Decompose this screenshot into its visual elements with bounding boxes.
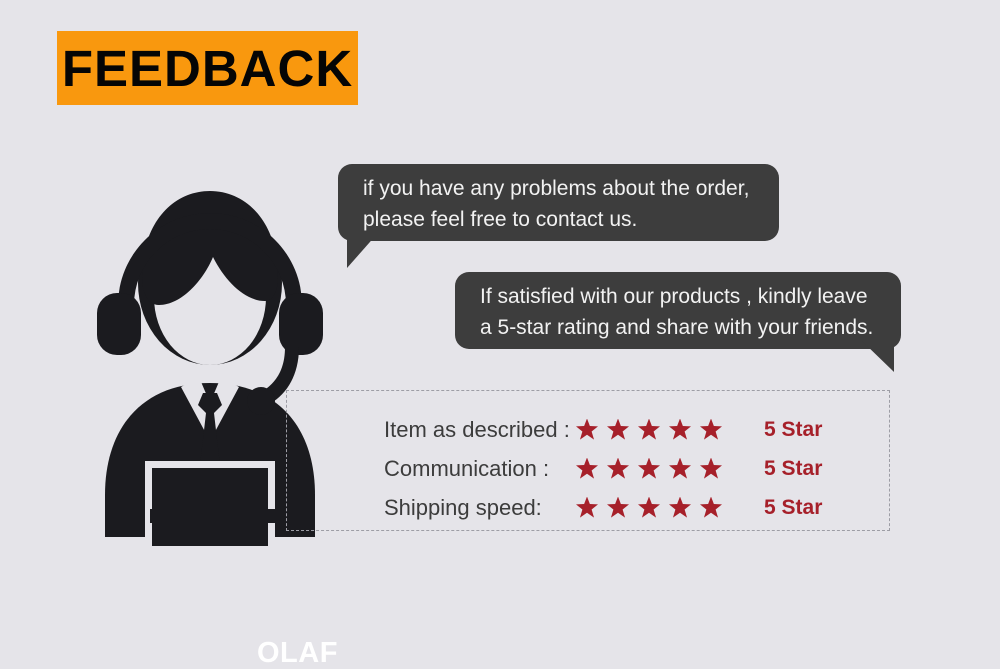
star-icon [607,458,629,480]
feedback-badge: FEEDBACK [57,31,358,105]
rating-rows: Item as described : 5 Star Communication… [384,410,854,527]
bubble1-line2: please feel free to contact us. [363,204,779,235]
star-rating-communication [576,458,738,480]
rating-row: Item as described : 5 Star [384,410,854,449]
rating-row: Communication : 5 Star [384,449,854,488]
bubble1-line1: if you have any problems about the order… [363,173,779,204]
rating-label-shipping-speed: Shipping speed: [384,495,576,521]
star-icon [576,458,598,480]
rating-value-communication: 5 Star [764,457,822,481]
speech-bubble-order-help: if you have any problems about the order… [338,164,779,241]
star-icon [638,419,660,441]
speech-bubble-rating-request-tail [862,341,894,372]
speech-bubble-rating-request: If satisfied with our products , kindly … [455,272,901,349]
star-icon [669,458,691,480]
bubble2-line2: a 5-star rating and share with your frie… [480,312,901,343]
bubble2-line1: If satisfied with our products , kindly … [480,281,901,312]
star-icon [638,497,660,519]
laptop-brand-label: OLAF [257,639,338,668]
star-icon [638,458,660,480]
rating-label-item-as-described: Item as described : [384,417,576,443]
star-icon [607,497,629,519]
star-icon [576,497,598,519]
speech-bubble-order-help-tail [347,234,377,268]
rating-value-shipping-speed: 5 Star [764,496,822,520]
star-icon [700,458,722,480]
star-icon [700,497,722,519]
laptop-base-bar [150,509,279,523]
rating-value-item-as-described: 5 Star [764,418,822,442]
star-icon [700,419,722,441]
rating-label-communication: Communication : [384,456,576,482]
feedback-badge-label: FEEDBACK [62,43,353,94]
rating-row: Shipping speed: 5 Star [384,488,854,527]
feedback-banner: FEEDBACK [0,0,1000,583]
star-icon [669,497,691,519]
star-icon [669,419,691,441]
star-rating-item-as-described [576,419,738,441]
star-icon [607,419,629,441]
star-icon [576,419,598,441]
star-rating-shipping-speed [576,497,738,519]
